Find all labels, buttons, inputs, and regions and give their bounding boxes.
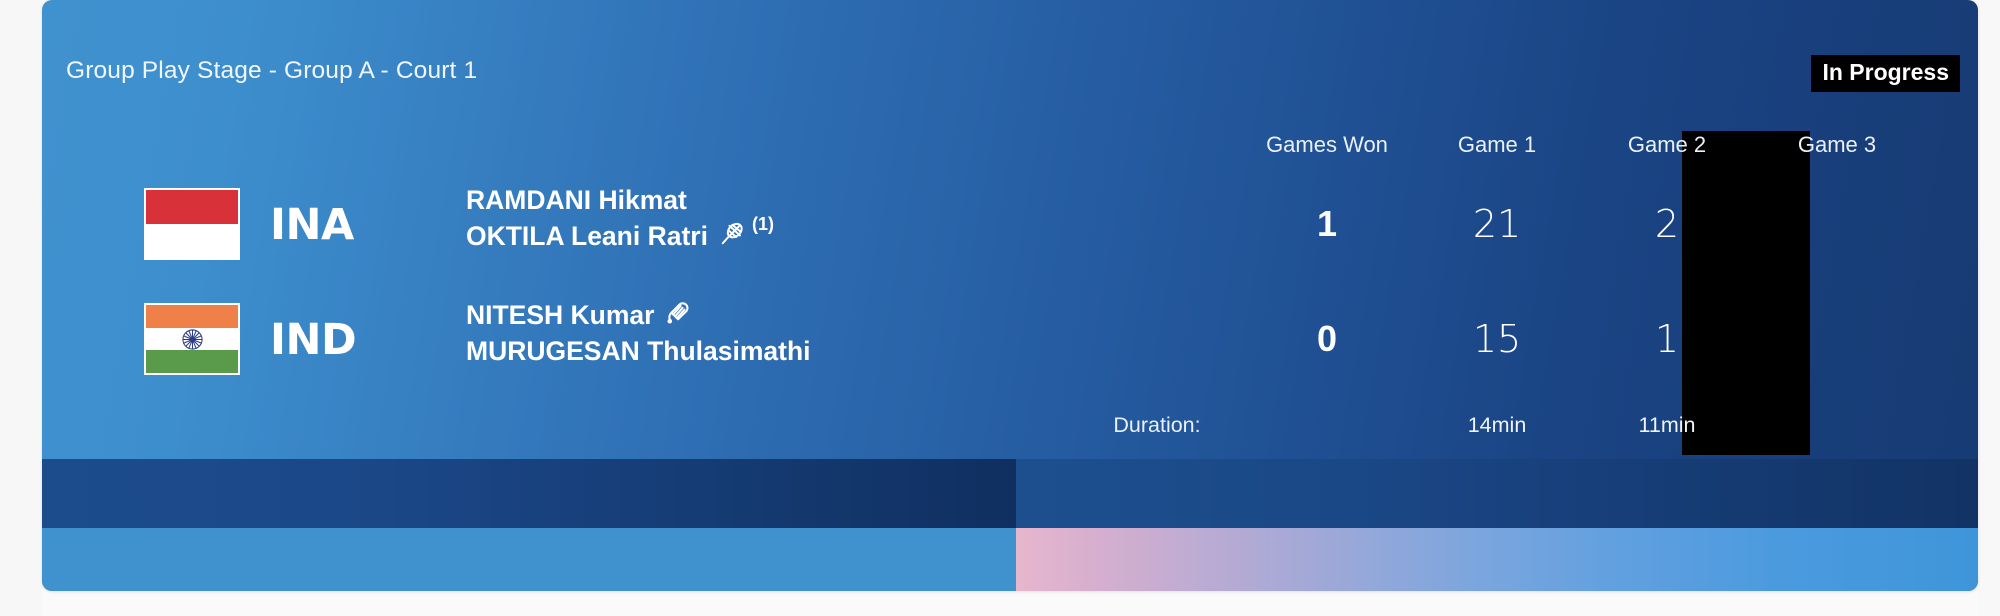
page-left-gutter [0,0,42,616]
racket-icon [717,219,747,249]
score-grid: 1 21 2 0 15 1 [1242,166,1962,396]
team-players: RAMDANI Hikmat OKTILA Leani Ratri [466,182,1226,254]
team-noc-code: INA [270,200,354,250]
team-players: NITESH Kumar [466,297,1226,369]
match-card[interactable]: Group Play Stage - Group A - Court 1 In … [42,0,1978,591]
flag-band-saffron [146,305,238,328]
player-name: NITESH Kumar [466,297,654,333]
column-header-games-won: Games Won [1242,132,1412,166]
footer-band-dark [42,459,1016,528]
duration-game-1: 14min [1412,413,1582,438]
footer-band-right-upper [1016,459,1978,528]
match-card-header: Group Play Stage - Group A - Court 1 In … [42,0,1978,108]
column-header-game-2: Game 2 [1582,132,1752,166]
player-name: MURUGESAN Thulasimathi [466,333,811,369]
duration-row: Duration: 14min 11min [1072,405,1962,445]
score-row-team-2: 0 15 1 [1242,281,1962,396]
footer-band-bottom-left [42,528,1016,591]
player-seed: (1) [752,212,774,236]
duration-label: Duration: [1072,413,1242,438]
page-right-gutter [1978,0,2000,616]
list-item: NITESH Kumar [466,297,1226,333]
page-title: Group Play Stage - Group A - Court 1 [66,57,477,85]
game-1-score: 21 [1412,202,1582,246]
player-name: RAMDANI Hikmat [466,182,687,218]
shuttlecock-icon [663,299,692,328]
game-1-score: 15 [1412,317,1582,361]
score-column-headers: Games Won Game 1 Game 2 Game 3 [1242,132,1962,166]
list-item: OKTILA Leani Ratri [466,218,1226,254]
list-item: MURUGESAN Thulasimathi [466,333,1226,369]
duration-game-2: 11min [1582,413,1752,438]
game-2-score: 1 [1582,317,1752,361]
status-badge: In Progress [1811,55,1960,92]
scoreboard-stage: Group Play Stage - Group A - Court 1 In … [0,0,2000,616]
column-header-game-1: Game 1 [1412,132,1582,166]
flag-india-icon [144,303,240,375]
list-item: RAMDANI Hikmat [466,182,1226,218]
games-won-value: 1 [1242,203,1412,245]
games-won-value: 0 [1242,318,1412,360]
flag-band-red [146,190,238,224]
flag-band-green [146,350,238,373]
flag-indonesia-icon [144,188,240,260]
player-name: OKTILA Leani Ratri [466,218,708,254]
column-header-game-3: Game 3 [1752,132,1922,166]
team-noc-code: IND [270,315,356,365]
game-2-score: 2 [1582,202,1752,246]
score-row-team-1: 1 21 2 [1242,166,1962,281]
flag-band-white [146,224,238,258]
footer-band-bottom-right [1016,528,1978,591]
ashoka-chakra-icon [181,328,204,351]
